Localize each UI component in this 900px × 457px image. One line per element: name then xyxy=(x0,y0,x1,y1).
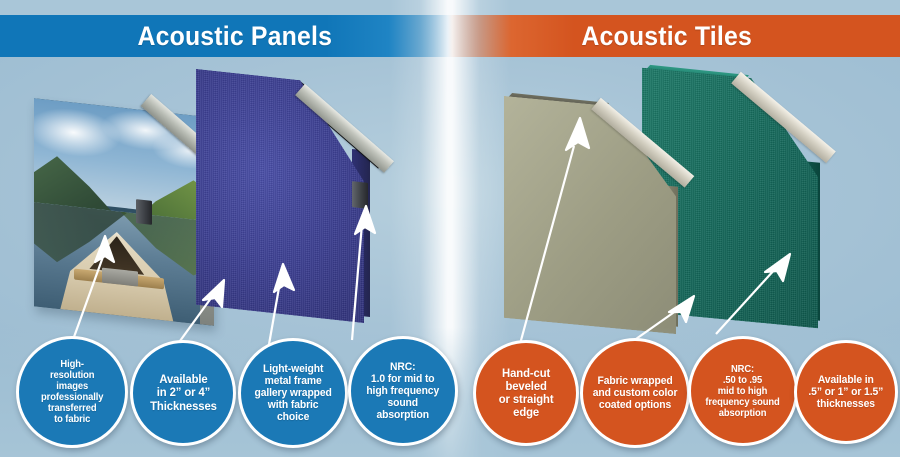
callout-text: NRC: 1.0 for mid to high frequency sound… xyxy=(367,361,440,421)
callout-light-weight-metal-frame[interactable]: Light-weight metal frame gallery wrapped… xyxy=(238,338,348,448)
callout-text: NRC: .50 to .95 mid to high frequency so… xyxy=(706,364,780,419)
callout-text: Hand-cut beveled or straight edge xyxy=(499,367,554,420)
callout-text: Light-weight metal frame gallery wrapped… xyxy=(254,363,331,423)
callout-nrc-panels[interactable]: NRC: 1.0 for mid to high frequency sound… xyxy=(348,336,458,446)
callout-fabric-wrapped-options[interactable]: Fabric wrapped and custom color coated o… xyxy=(580,338,690,448)
callout-text: Available in .5” or 1” or 1.5” thickness… xyxy=(809,374,884,410)
callout-bubbles: High- resolution images professionally t… xyxy=(0,0,900,457)
callout-hand-cut-edge[interactable]: Hand-cut beveled or straight edge xyxy=(473,340,579,446)
callout-text: Fabric wrapped and custom color coated o… xyxy=(593,375,678,411)
acoustic-products-infographic: Acoustic Panels Acoustic Tiles High- res… xyxy=(0,0,900,457)
callout-available-thicknesses-tiles[interactable]: Available in .5” or 1” or 1.5” thickness… xyxy=(794,340,898,444)
callout-nrc-tiles[interactable]: NRC: .50 to .95 mid to high frequency so… xyxy=(688,336,798,446)
callout-high-resolution-images[interactable]: High- resolution images professionally t… xyxy=(16,336,128,448)
callout-available-thicknesses[interactable]: Available in 2” or 4” Thicknesses xyxy=(130,340,236,446)
callout-text: High- resolution images professionally t… xyxy=(41,359,103,425)
callout-text: Available in 2” or 4” Thicknesses xyxy=(150,373,217,413)
